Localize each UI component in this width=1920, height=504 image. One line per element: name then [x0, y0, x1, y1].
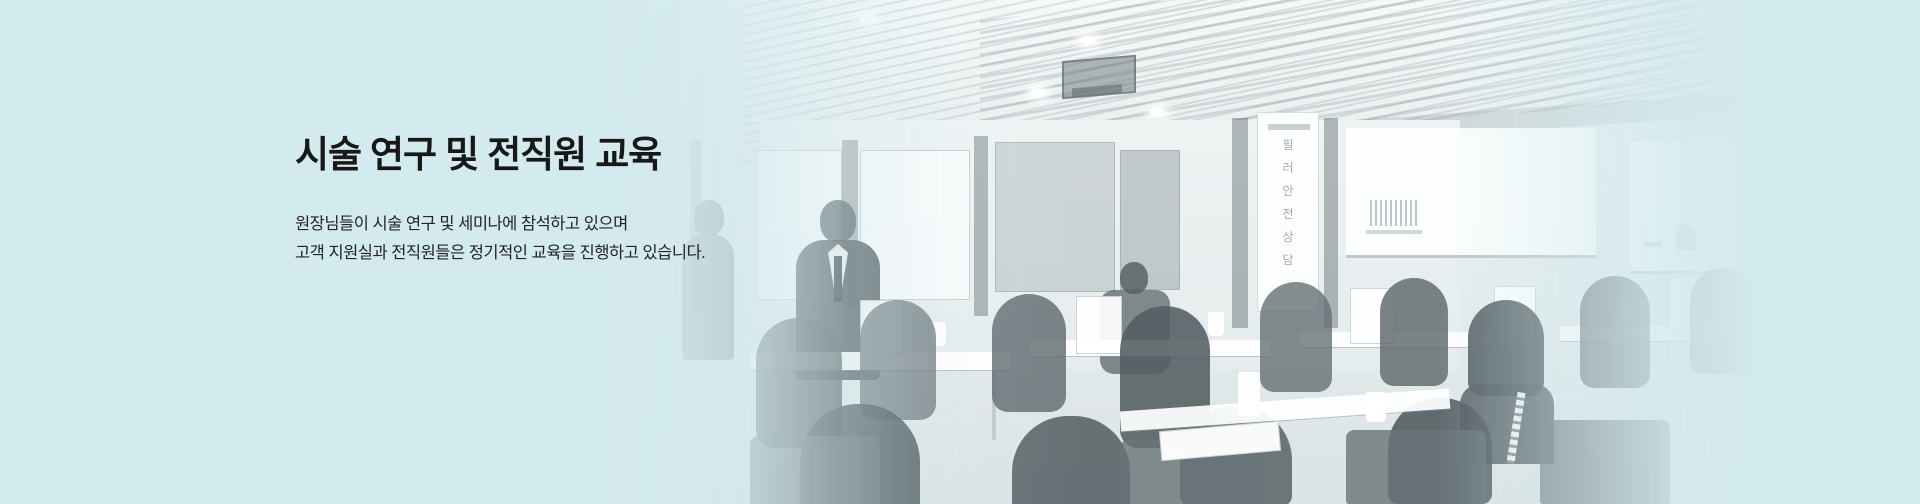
screen-chart-icon [1370, 200, 1418, 226]
attendee-hair [1380, 278, 1448, 386]
banner-char: 상 [1282, 231, 1293, 243]
projector-icon [1062, 55, 1136, 99]
banner-char: 러 [1282, 162, 1293, 174]
downlight-icon [1030, 88, 1046, 97]
downlight-icon [1150, 108, 1166, 117]
attendee-hair [1690, 268, 1756, 374]
hero-banner: 필 러 안 전 상 담 [0, 0, 1920, 504]
attendee-hair [1580, 276, 1650, 388]
projection-screen-right [1630, 142, 1860, 274]
subtitle-line-2: 고객 지원실과 전직원들은 정기적인 교육을 진행하고 있습니다. [295, 239, 765, 268]
attendee-hair [1778, 264, 1840, 364]
paper-cup [1208, 312, 1224, 336]
banner-logo-icon [1268, 124, 1310, 130]
subtitle-line-1: 원장님들이 시술 연구 및 세미나에 참석하고 있으며 [295, 210, 765, 239]
paper-cup [1366, 392, 1386, 422]
attendee [1690, 268, 1756, 382]
floor-planks [1800, 420, 1920, 504]
pillar [974, 136, 988, 316]
chair [1540, 420, 1670, 504]
presenter-head [820, 200, 856, 242]
banner-char: 담 [1282, 254, 1293, 266]
screen-caption [1366, 230, 1422, 234]
attendee-hair [1468, 300, 1544, 396]
banner-char: 필 [1282, 139, 1293, 151]
attendee-hair [1012, 416, 1130, 504]
screen-figure [1676, 224, 1696, 250]
presenter-tie [834, 256, 842, 302]
window-panel-dark [995, 142, 1115, 292]
water-bottle [1238, 372, 1260, 416]
attendee [1380, 278, 1448, 396]
chair [1346, 430, 1486, 504]
chair [750, 436, 880, 504]
banner-char: 전 [1282, 208, 1293, 220]
attendee-front [1012, 416, 1130, 504]
attendee-hair [992, 294, 1066, 412]
attendee [1580, 276, 1650, 396]
paper-bag [1840, 338, 1892, 404]
attendee-hair [860, 300, 936, 420]
attendee [992, 294, 1066, 424]
screen-figure [1644, 242, 1662, 247]
downlight-icon [1080, 36, 1096, 45]
attendee [1778, 264, 1840, 372]
paper-bag [1076, 296, 1122, 354]
attendee [1260, 282, 1332, 402]
banner-char: 안 [1282, 185, 1293, 197]
hero-subtitle: 원장님들이 시술 연구 및 세미나에 참석하고 있으며 고객 지원실과 전직원들… [295, 210, 765, 269]
downlight-icon [860, 14, 876, 23]
attendee-hair [1260, 282, 1332, 392]
pillar [1232, 118, 1248, 328]
hero-copy: 시술 연구 및 전직원 교육 원장님들이 시술 연구 및 세미나에 참석하고 있… [295, 133, 765, 268]
projection-screen [1346, 128, 1596, 258]
page-title: 시술 연구 및 전직원 교육 [295, 133, 765, 177]
